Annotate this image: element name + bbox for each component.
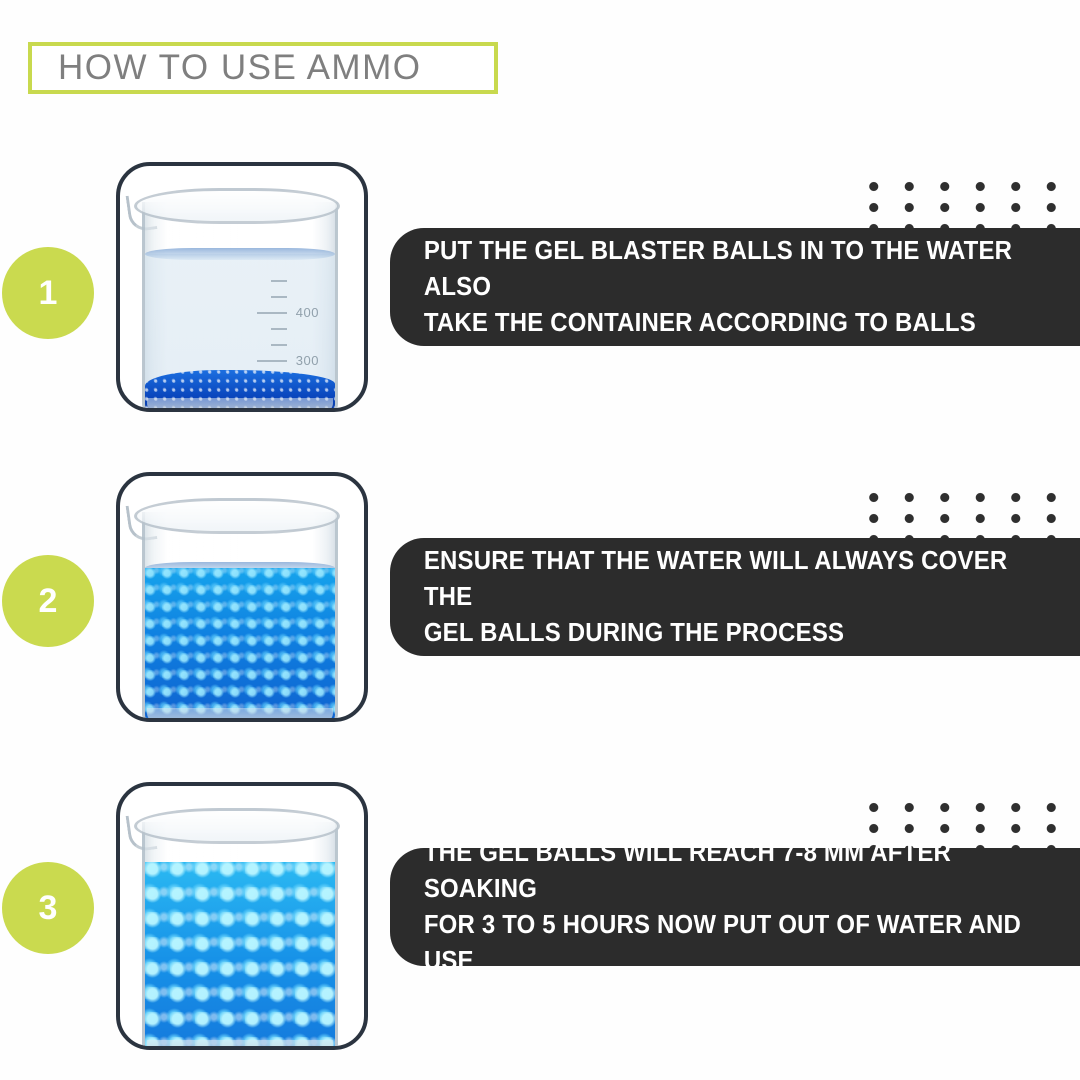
beaker-rim xyxy=(134,498,340,534)
beaker-illustration-1: 400 300 xyxy=(142,180,338,412)
beaker-glass-body: 400 300 xyxy=(142,202,338,412)
beaker-glass-body xyxy=(142,822,338,1050)
step-callout-banner-1: PUT THE GEL BLASTER BALLS IN TO THE WATE… xyxy=(390,228,1080,346)
step-number-label: 1 xyxy=(39,274,58,313)
beaker-water-surface xyxy=(145,248,335,260)
beaker-rim xyxy=(134,188,340,224)
gel-balls-layer-3 xyxy=(145,862,335,1050)
beaker-base xyxy=(147,708,333,722)
step-number-label: 3 xyxy=(39,889,58,928)
step-instruction-text-2: ENSURE THAT THE WATER WILL ALWAYS COVER … xyxy=(390,543,1039,652)
page-title-box: HOW TO USE AMMO xyxy=(28,42,498,94)
step-number-badge-3: 3 xyxy=(2,862,94,954)
page-title: HOW TO USE AMMO xyxy=(32,48,421,88)
step-number-badge-2: 2 xyxy=(2,555,94,647)
step-number-label: 2 xyxy=(39,582,58,621)
step-image-frame-1: 400 300 xyxy=(116,162,368,412)
step-instruction-text-3: THE GEL BALLS WILL REACH 7-8 MM AFTER SO… xyxy=(390,835,1039,980)
gel-balls-layer-2 xyxy=(145,568,335,722)
beaker-graduation-scale: 400 300 xyxy=(247,280,321,380)
graduation-label-400: 400 xyxy=(296,305,319,320)
beaker-illustration-3 xyxy=(142,800,338,1050)
beaker-base xyxy=(147,1040,333,1050)
step-number-badge-1: 1 xyxy=(2,247,94,339)
step-image-frame-3 xyxy=(116,782,368,1050)
step-callout-banner-3: THE GEL BALLS WILL REACH 7-8 MM AFTER SO… xyxy=(390,848,1080,966)
step-image-frame-2 xyxy=(116,472,368,722)
beaker-base xyxy=(147,398,333,412)
beaker-illustration-2 xyxy=(142,490,338,722)
step-callout-banner-2: ENSURE THAT THE WATER WILL ALWAYS COVER … xyxy=(390,538,1080,656)
infographic-page: HOW TO USE AMMO 1 400 300 xyxy=(0,0,1080,1080)
beaker-rim xyxy=(134,808,340,844)
step-instruction-text-1: PUT THE GEL BLASTER BALLS IN TO THE WATE… xyxy=(390,233,1039,342)
beaker-glass-body xyxy=(142,512,338,722)
graduation-label-300: 300 xyxy=(296,353,319,368)
